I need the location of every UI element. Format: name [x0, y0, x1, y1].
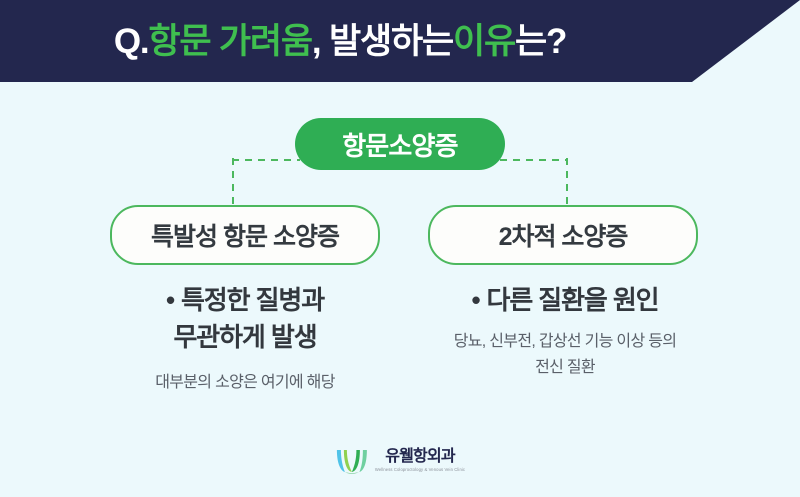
- title-suffix: 는?: [515, 24, 566, 59]
- logo-text-wrap: 유웰항외과 Wellness Coloproctology & Venous V…: [375, 449, 465, 472]
- sub-note-line: 당뇨, 신부전, 갑상선 기능 이상 등의: [400, 329, 730, 355]
- branch-node-label: 특발성 항문 소양증: [151, 217, 339, 253]
- branch-node-idiopathic: 특발성 항문 소양증: [110, 205, 380, 265]
- branch-node-label: 2차적 소양증: [499, 217, 628, 253]
- sub-note-line: 대부분의 소양은 여기에 해당: [80, 370, 410, 396]
- branch-content-idiopathic: •특정한 질병과 무관하게 발생 대부분의 소양은 여기에 해당: [80, 282, 410, 395]
- title-highlight-1: 항문 가려움: [148, 24, 312, 59]
- page-title: Q. 항문 가려움, 발생하는 이유는?: [0, 0, 680, 82]
- title-prefix: Q.: [114, 24, 149, 59]
- sub-note-block: 당뇨, 신부전, 갑상선 기능 이상 등의 전신 질환: [400, 329, 730, 380]
- bullet-text: 다른 질환을 원인: [487, 285, 659, 315]
- infographic-page: Q. 항문 가려움, 발생하는 이유는? 항문소양증 특발성 항문 소양증 2차…: [0, 0, 800, 497]
- brand-tagline: Wellness Coloproctology & Venous Vein Cl…: [375, 468, 465, 472]
- u-shape-logo-icon: [335, 448, 369, 474]
- bullet-marker: •: [471, 282, 479, 319]
- branch-content-secondary: •다른 질환을 원인 당뇨, 신부전, 갑상선 기능 이상 등의 전신 질환: [400, 282, 730, 380]
- sub-note-block: 대부분의 소양은 여기에 해당: [80, 370, 410, 396]
- sub-note-line: 전신 질환: [400, 355, 730, 381]
- branch-node-secondary: 2차적 소양증: [428, 205, 698, 265]
- footer-logo: 유웰항외과 Wellness Coloproctology & Venous V…: [335, 448, 465, 474]
- bullet-marker: •: [166, 282, 174, 319]
- header-banner: Q. 항문 가려움, 발생하는 이유는?: [0, 0, 800, 82]
- bullet-line: 무관하게 발생: [80, 319, 410, 356]
- bullet-line: •다른 질환을 원인: [400, 282, 730, 319]
- bullet-text: 무관하게 발생: [173, 322, 316, 352]
- bullet-text: 특정한 질병과: [181, 285, 324, 315]
- brand-name: 유웰항외과: [385, 449, 455, 465]
- bullet-line: •특정한 질병과: [80, 282, 410, 319]
- title-highlight-2: 이유: [453, 24, 515, 59]
- root-node-label: 항문소양증: [342, 126, 458, 163]
- title-middle: , 발생하는: [312, 24, 453, 59]
- root-node: 항문소양증: [295, 118, 505, 170]
